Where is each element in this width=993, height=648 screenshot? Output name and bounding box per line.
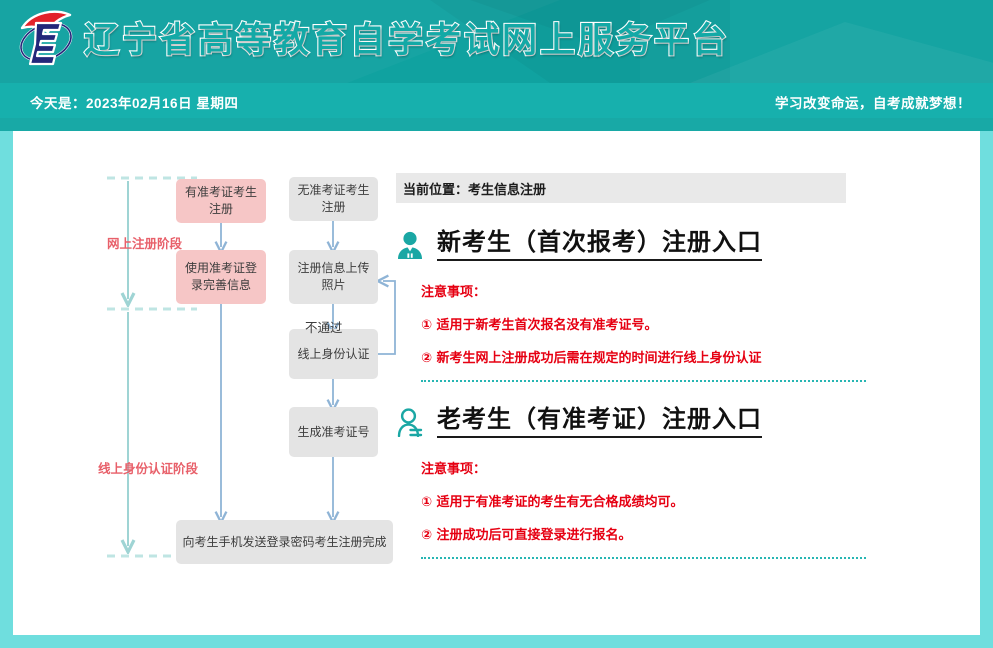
- flow-box-new-candidate-register: 无准考证考生注册: [289, 177, 378, 221]
- page-title: 辽宁省高等教育自学考试网上服务平台: [84, 12, 730, 63]
- entry-header-new-candidate[interactable]: 新考生（首次报考）注册入口: [396, 228, 866, 261]
- slogan-text: 学习改变命运，自考成就梦想！: [775, 92, 971, 112]
- right-panel: 当前位置：考生信息注册 新考生（首次报考）注册入口: [396, 173, 866, 559]
- notice-separator: [421, 380, 866, 382]
- flow-box-old-candidate-register: 有准考证考生注册: [176, 179, 266, 223]
- flow-box-login-complete-info: 使用准考证登录完善信息: [176, 250, 266, 304]
- date-bar: 今天是：2023年02月16日 星期四 学习改变命运，自考成就梦想！: [0, 83, 993, 118]
- flow-box-online-identity-auth: 线上身份认证: [289, 329, 378, 379]
- flow-box-label: 线上身份认证: [297, 346, 369, 363]
- person-outline-icon: [396, 407, 424, 437]
- notice-heading: 注意事项：: [421, 458, 866, 477]
- flow-box-label: 注册信息上传照片: [295, 260, 372, 294]
- flow-box-generate-admission-number: 生成准考证号: [289, 407, 378, 457]
- flow-box-label: 使用准考证登录完善信息: [182, 260, 260, 294]
- entry-header-old-candidate[interactable]: 老考生（有准考证）注册入口: [396, 405, 866, 438]
- old-candidate-register-link[interactable]: 老考生（有准考证）注册入口: [437, 405, 762, 438]
- entry-block-new-candidate: 新考生（首次报考）注册入口 注意事项： ① 适用于新考生首次报名没有准考证号。 …: [396, 228, 866, 382]
- edge-label-not-passed: 不通过: [305, 317, 343, 336]
- flow-box-label: 有准考证考生注册: [182, 184, 260, 218]
- notice-list-old-candidate: 注意事项： ① 适用于有准考证的考生有无合格成绩均可。 ② 注册成功后可直接登录…: [396, 458, 866, 559]
- notice-item: ② 注册成功后可直接登录进行报名。: [421, 524, 866, 543]
- current-date-text: 今天是：2023年02月16日 星期四: [30, 92, 238, 112]
- notice-item: ① 适用于有准考证的考生有无合格成绩均可。: [421, 491, 866, 510]
- new-candidate-register-link[interactable]: 新考生（首次报考）注册入口: [437, 228, 762, 261]
- notice-heading: 注意事项：: [421, 281, 866, 300]
- teal-divider-band: [0, 118, 993, 131]
- entry-block-old-candidate: 老考生（有准考证）注册入口 注意事项： ① 适用于有准考证的考生有无合格成绩均可…: [396, 405, 866, 559]
- stage-label-online-registration: 网上注册阶段: [107, 233, 182, 252]
- flow-box-register-info-upload-photo: 注册信息上传照片: [289, 250, 378, 304]
- notice-separator: [421, 557, 866, 559]
- breadcrumb-text: 当前位置：考生信息注册: [403, 179, 546, 198]
- person-filled-icon: [396, 230, 424, 260]
- registration-flowchart: 有准考证考生注册 无准考证考生注册 使用准考证登录完善信息 注册信息上传照片 线…: [97, 171, 397, 611]
- site-header: 辽宁省高等教育自学考试网上服务平台: [0, 0, 993, 83]
- stage-label-identity-verification: 线上身份认证阶段: [98, 458, 198, 477]
- notice-item: ② 新考生网上注册成功后需在规定的时间进行线上身份认证: [421, 347, 866, 366]
- lneea-emblem-logo-icon[interactable]: [12, 6, 80, 72]
- flow-box-label: 生成准考证号: [297, 424, 369, 441]
- notice-list-new-candidate: 注意事项： ① 适用于新考生首次报名没有准考证号。 ② 新考生网上注册成功后需在…: [396, 281, 866, 382]
- content-card: 有准考证考生注册 无准考证考生注册 使用准考证登录完善信息 注册信息上传照片 线…: [13, 131, 980, 635]
- flow-box-label: 无准考证考生注册: [295, 182, 372, 216]
- breadcrumb: 当前位置：考生信息注册: [396, 173, 846, 203]
- flow-box-label: 向考生手机发送登录密码考生注册完成: [182, 534, 386, 551]
- flow-box-send-password-done: 向考生手机发送登录密码考生注册完成: [176, 520, 393, 564]
- notice-item: ① 适用于新考生首次报名没有准考证号。: [421, 314, 866, 333]
- page-frame: 有准考证考生注册 无准考证考生注册 使用准考证登录完善信息 注册信息上传照片 线…: [0, 131, 993, 648]
